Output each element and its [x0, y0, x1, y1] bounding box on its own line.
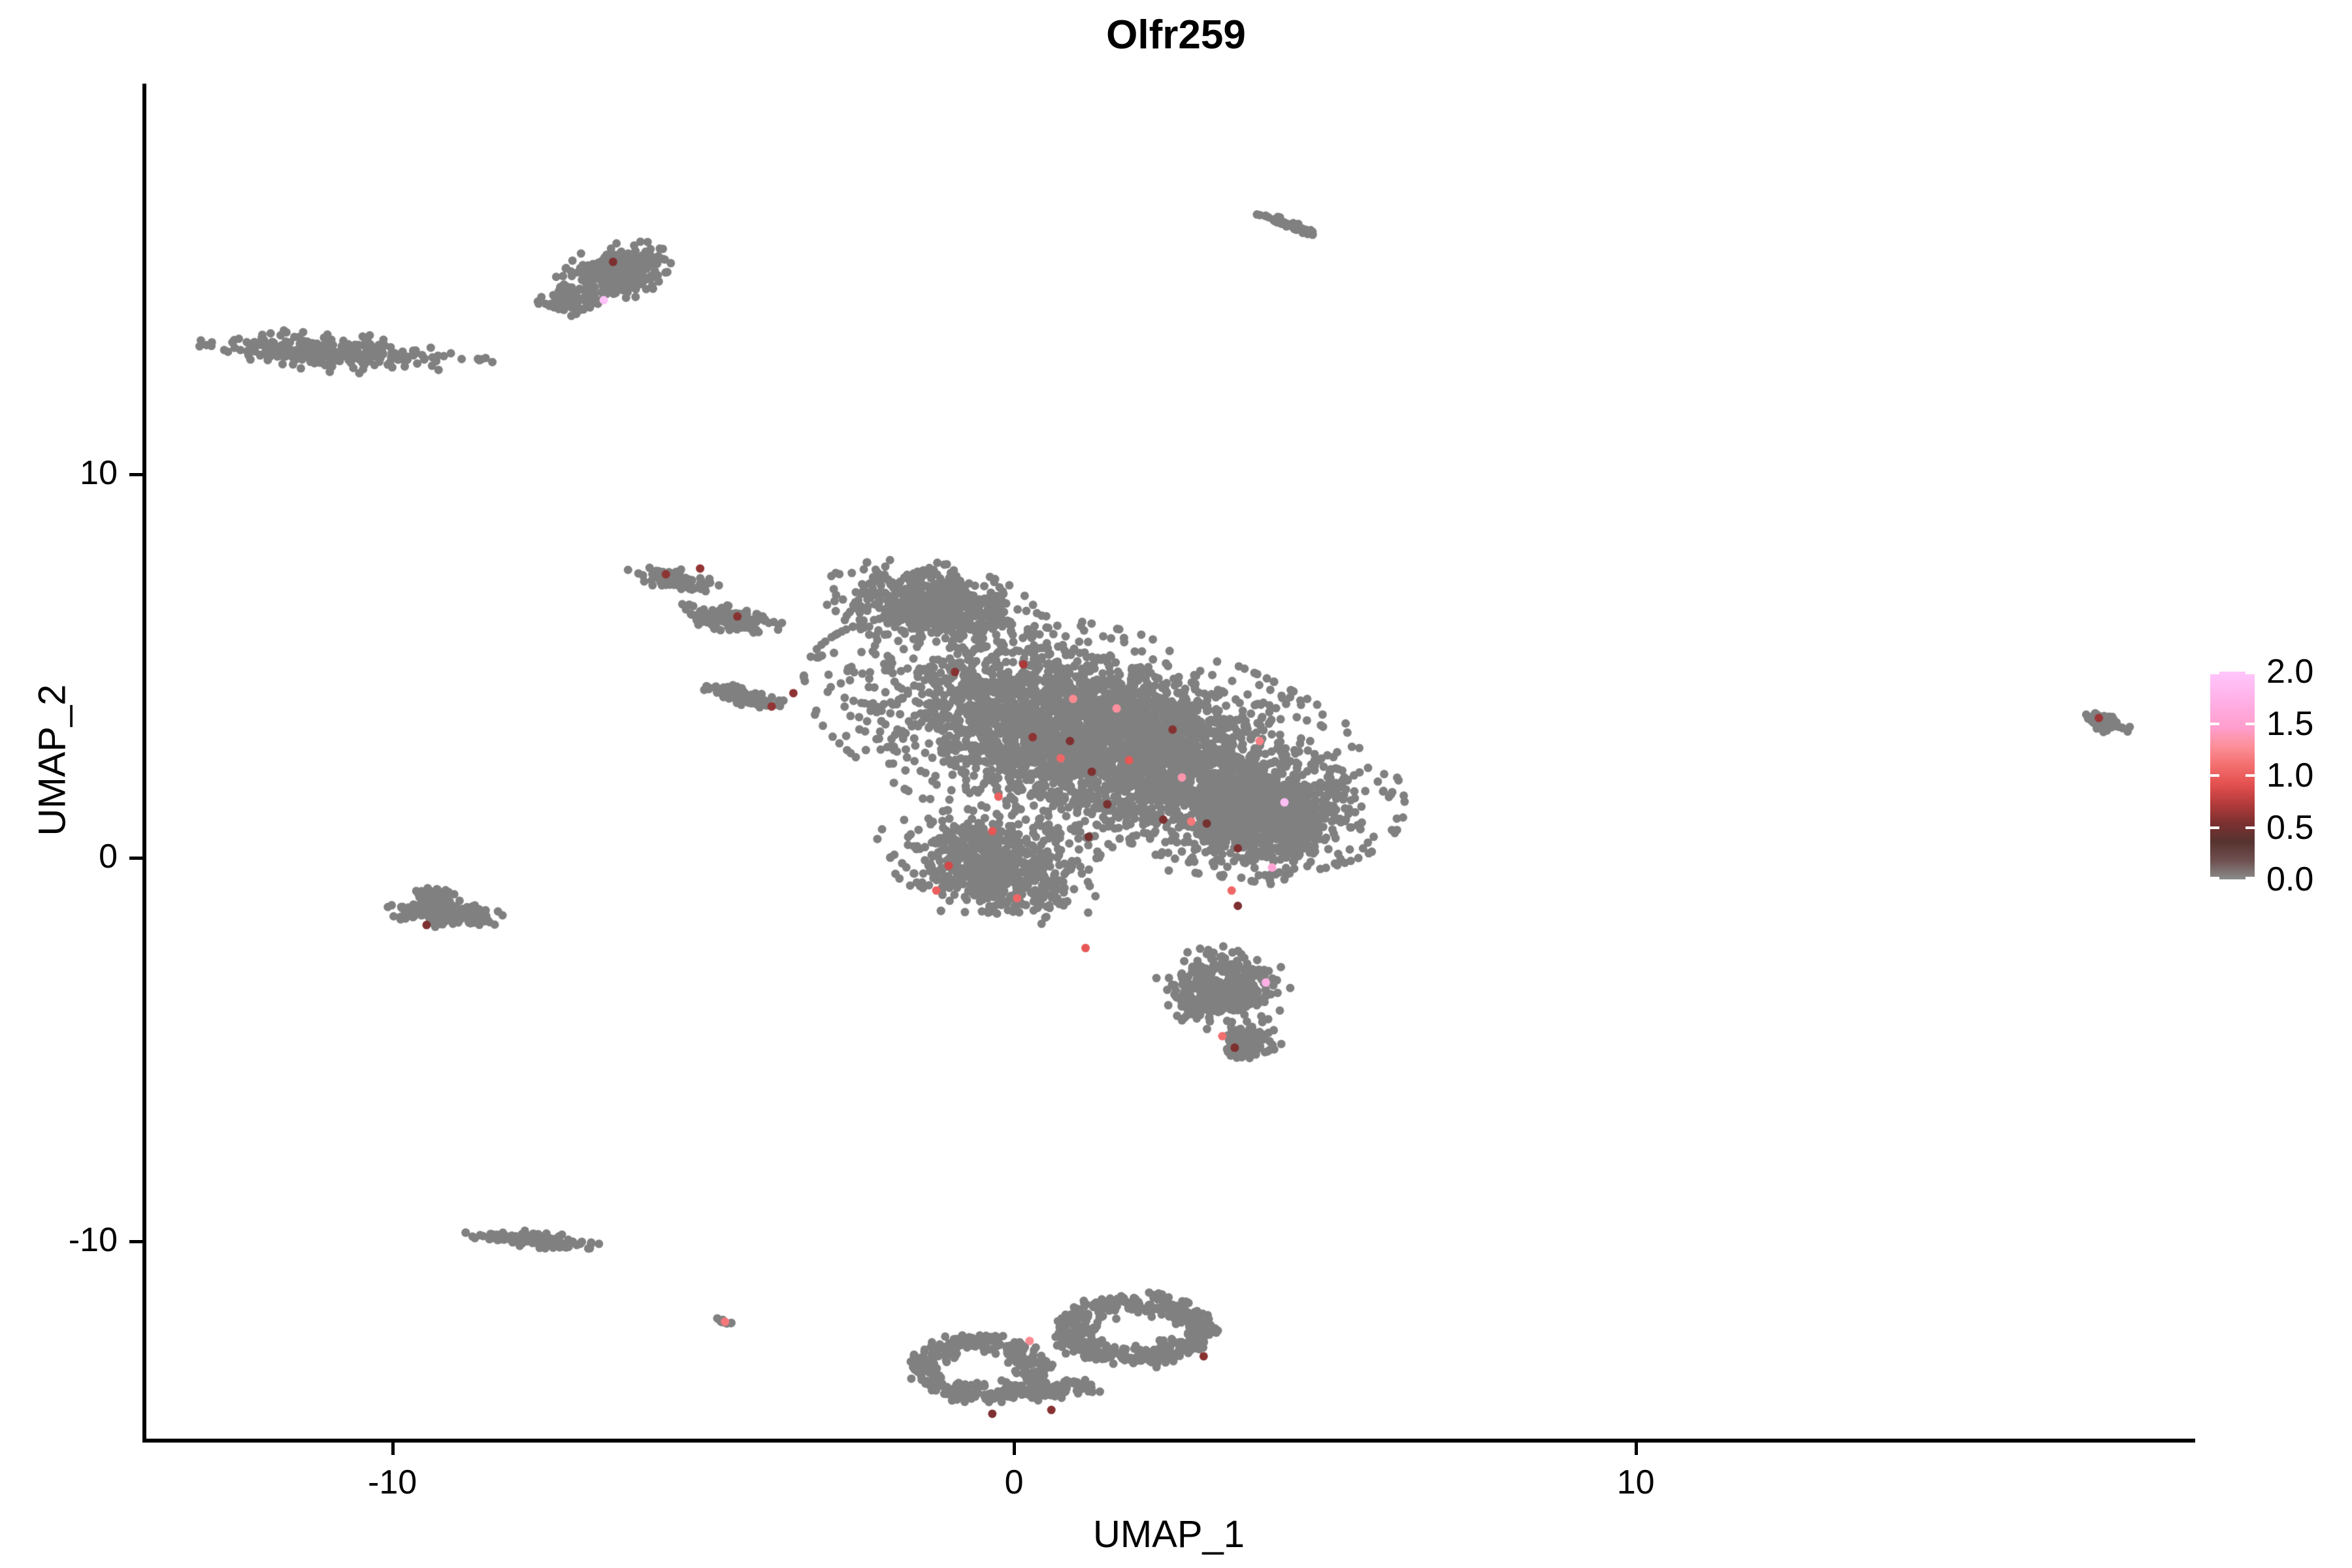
- page-title: Olfr259: [0, 12, 2352, 58]
- legend-label: 0.5: [2266, 811, 2313, 845]
- x-tick-label: 0: [916, 1463, 1112, 1502]
- plot-panel: [144, 84, 2195, 1441]
- legend-label: 1.5: [2266, 707, 2313, 741]
- x-tick-mark: [391, 1441, 395, 1455]
- x-axis-title: UMAP_1: [142, 1512, 2195, 1556]
- legend-label: 1.0: [2266, 759, 2313, 792]
- y-axis-title: UMAP_2: [31, 368, 74, 1152]
- y-tick-label: -10: [0, 1220, 118, 1260]
- legend-label: 0.0: [2266, 862, 2313, 896]
- y-axis-line: [142, 84, 146, 1443]
- legend-label: 2.0: [2266, 655, 2313, 689]
- x-tick-mark: [1013, 1441, 1016, 1455]
- scatter-plot-canvas: [144, 84, 2195, 1441]
- umap-feature-plot: Olfr259 100-10 -10010 UMAP_1 UMAP_2 2.01…: [0, 0, 2352, 1568]
- color-legend: 2.01.51.00.50.0: [2210, 672, 2341, 887]
- y-tick-mark: [129, 1240, 144, 1243]
- y-tick-mark: [129, 473, 144, 476]
- y-tick-mark: [129, 857, 144, 860]
- legend-gradient-bar: [2210, 672, 2255, 879]
- x-tick-label: -10: [295, 1463, 491, 1502]
- x-axis-line: [142, 1439, 2195, 1443]
- x-tick-label: 10: [1538, 1463, 1734, 1502]
- x-tick-mark: [1635, 1441, 1638, 1455]
